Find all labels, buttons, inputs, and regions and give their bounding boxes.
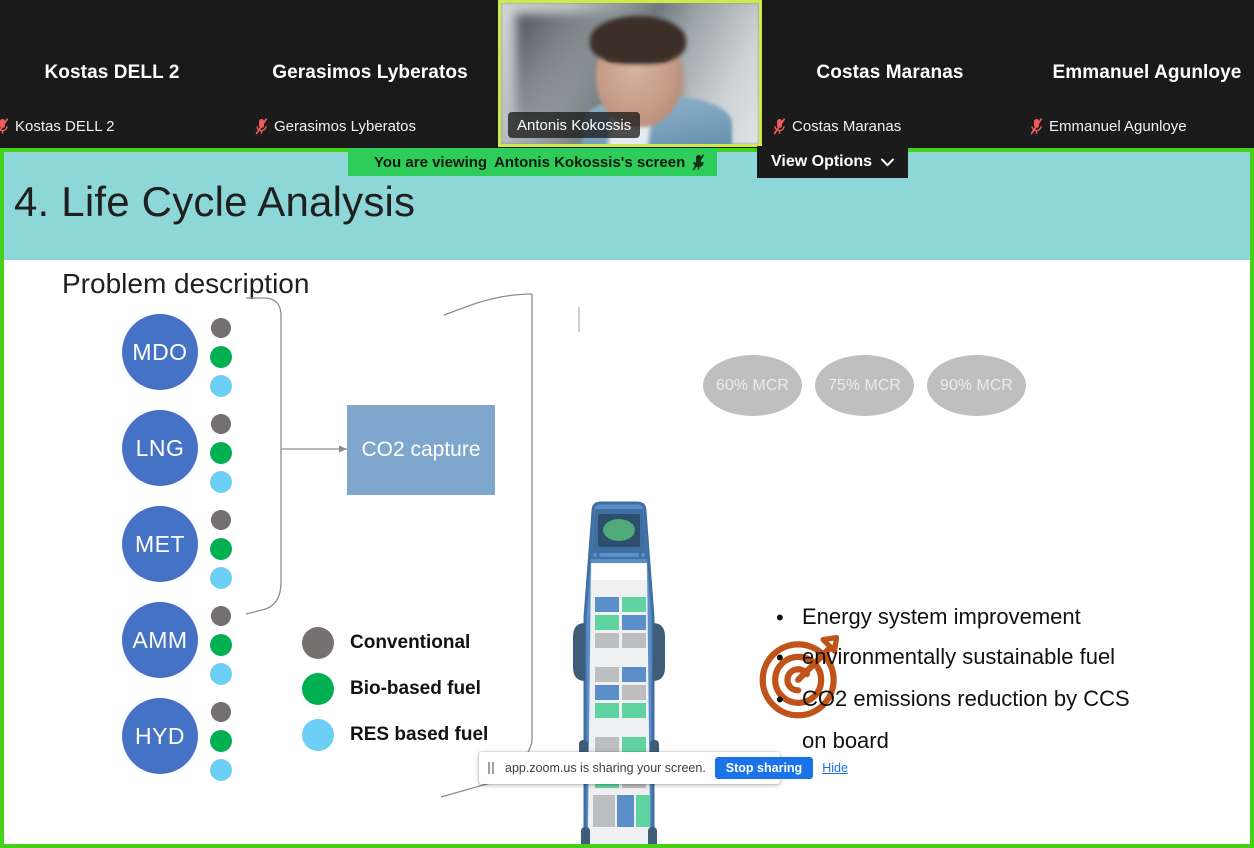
objective-text-0: Energy system improvement: [802, 603, 1081, 631]
fuel-dot-res-amm: [210, 663, 232, 685]
legend-label-bio: Bio-based fuel: [350, 678, 481, 700]
stop-sharing-button[interactable]: Stop sharing: [715, 757, 813, 779]
participant-nametag-label-2: Antonis Kokossis: [517, 117, 631, 134]
objective-text-2: CO2 emissions reduction by CCS: [802, 685, 1130, 713]
participant-nametag-3[interactable]: Costas Maranas: [765, 113, 911, 140]
fuel-dot-conventional-met: [211, 510, 231, 530]
viewing-sharer: Antonis Kokossis's screen: [494, 154, 685, 171]
fuel-dot-res-lng: [210, 471, 232, 493]
objective-text-3: on board: [802, 727, 889, 755]
fuel-label-hyd: HYD: [135, 723, 185, 750]
bullet-icon: •: [776, 603, 802, 629]
fuel-dot-conventional-amm: [211, 606, 231, 626]
cargo-ship-top-view-icon: [565, 497, 673, 844]
viewing-prefix: You are viewing: [374, 154, 487, 171]
load-case-60: 60% MCR: [703, 355, 802, 416]
participant-nametag-label-3: Costas Maranas: [792, 118, 901, 135]
presentation-slide: 4. Life Cycle Analysis Problem descripti…: [4, 152, 1250, 844]
fuel-dot-conventional-mdo: [211, 318, 231, 338]
fuel-dot-bio-met: [210, 538, 232, 560]
mic-muted-icon: [773, 118, 786, 135]
fuel-dot-bio-hyd: [210, 730, 232, 752]
participant-video-tile-2[interactable]: Antonis Kokossis: [498, 0, 762, 147]
participant-title-3: Costas Maranas: [790, 62, 990, 84]
fuel-dot-res-mdo: [210, 375, 232, 397]
load-case-label-90: 90% MCR: [940, 377, 1013, 395]
view-options-button[interactable]: View Options: [757, 146, 908, 178]
legend-swatch-conventional: [302, 627, 334, 659]
shared-screen-frame: 4. Life Cycle Analysis Problem descripti…: [0, 148, 1254, 848]
fuel-node-mdo: MDO: [122, 314, 198, 390]
mic-muted-icon: [255, 118, 268, 135]
load-case-75: 75% MCR: [815, 355, 914, 416]
participant-nametag-label-0: Kostas DELL 2: [15, 118, 115, 135]
you-are-viewing-bar: You are viewing Antonis Kokossis's scree…: [348, 148, 717, 176]
fuel-label-amm: AMM: [132, 627, 187, 654]
objective-text-1: environmentally sustainable fuel: [802, 643, 1115, 671]
fuel-node-amm: AMM: [122, 602, 198, 678]
participant-title-1: Gerasimos Lyberatos: [268, 62, 472, 84]
legend-item-res: RES based fuel: [302, 719, 488, 751]
load-case-90: 90% MCR: [927, 355, 1026, 416]
fuel-dot-res-hyd: [210, 759, 232, 781]
pause-icon: [488, 762, 496, 774]
participant-nametag-0[interactable]: Kostas DELL 2: [0, 113, 125, 140]
objective-item-2: • CO2 emissions reduction by CCS: [776, 685, 1130, 713]
fuel-label-mdo: MDO: [132, 339, 187, 366]
participant-nametag-1[interactable]: Gerasimos Lyberatos: [247, 113, 426, 140]
fuel-node-lng: LNG: [122, 410, 198, 486]
bullet-icon: •: [776, 685, 802, 711]
process-box-label: CO2 capture: [361, 438, 480, 462]
video-person-glasses: [604, 47, 672, 62]
fuel-dot-conventional-lng: [211, 414, 231, 434]
load-case-label-60: 60% MCR: [716, 377, 789, 395]
objective-item-3: on board: [802, 727, 889, 755]
chevron-down-icon: [881, 158, 894, 167]
load-case-label-75: 75% MCR: [828, 377, 901, 395]
participant-nametag-label-4: Emmanuel Agunloye: [1049, 118, 1187, 135]
legend-label-conventional: Conventional: [350, 632, 470, 654]
screen-share-notification: app.zoom.us is sharing your screen. Stop…: [479, 752, 780, 784]
participant-nametag-2: Antonis Kokossis: [508, 112, 640, 138]
fuel-node-hyd: HYD: [122, 698, 198, 774]
participant-title-4: Emmanuel Agunloye: [1040, 62, 1254, 84]
fuel-dot-bio-mdo: [210, 346, 232, 368]
fuel-label-lng: LNG: [136, 435, 185, 462]
participant-filmstrip: Kostas DELL 2 Kostas DELL 2 Gerasimos Ly…: [0, 0, 1254, 148]
objective-item-1: • environmentally sustainable fuel: [776, 643, 1115, 671]
participant-nametag-4[interactable]: Emmanuel Agunloye: [1022, 113, 1197, 140]
fuel-dot-bio-amm: [210, 634, 232, 656]
hide-link[interactable]: Hide: [822, 761, 848, 775]
process-box-co2-capture: CO2 capture: [347, 405, 495, 495]
legend-item-bio: Bio-based fuel: [302, 673, 481, 705]
legend-item-conventional: Conventional: [302, 627, 470, 659]
legend-swatch-bio: [302, 673, 334, 705]
participant-nametag-label-1: Gerasimos Lyberatos: [274, 118, 416, 135]
mic-muted-icon: [0, 118, 9, 135]
objective-item-0: • Energy system improvement: [776, 603, 1081, 631]
bullet-icon: •: [776, 643, 802, 669]
zoom-meeting-window: Kostas DELL 2 Kostas DELL 2 Gerasimos Ly…: [0, 0, 1254, 848]
fuel-dot-res-met: [210, 567, 232, 589]
legend-label-res: RES based fuel: [350, 724, 488, 746]
legend-swatch-res: [302, 719, 334, 751]
view-options-label: View Options: [771, 153, 872, 171]
slide-title: 4. Life Cycle Analysis: [14, 178, 415, 226]
mic-muted-icon: [1030, 118, 1043, 135]
mic-muted-icon: [692, 154, 705, 171]
slide-subtitle: Problem description: [62, 268, 309, 300]
screen-share-message: app.zoom.us is sharing your screen.: [505, 761, 706, 775]
fuel-node-met: MET: [122, 506, 198, 582]
participant-title-0: Kostas DELL 2: [10, 62, 214, 84]
fuel-label-met: MET: [135, 531, 185, 558]
fuel-dot-bio-lng: [210, 442, 232, 464]
fuel-dot-conventional-hyd: [211, 702, 231, 722]
